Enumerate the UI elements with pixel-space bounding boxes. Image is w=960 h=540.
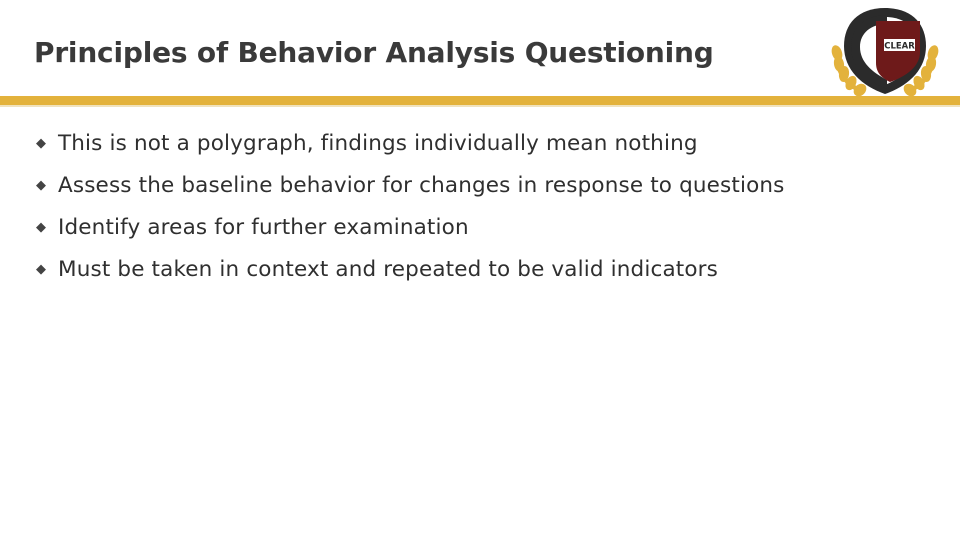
diamond-bullet-icon: ◆	[34, 166, 58, 206]
page-title: Principles of Behavior Analysis Question…	[34, 36, 814, 70]
diamond-bullet-icon: ◆	[34, 208, 58, 248]
diamond-bullet-icon: ◆	[34, 124, 58, 164]
title-divider-rule	[0, 96, 960, 105]
bullet-list: ◆ This is not a polygraph, findings indi…	[34, 124, 914, 292]
list-item-text: Assess the baseline behavior for changes…	[58, 166, 914, 206]
title-divider-shadow	[0, 105, 960, 107]
list-item-text: Identify areas for further examination	[58, 208, 914, 248]
shield-label-text: CLEAR	[884, 42, 915, 52]
list-item-text: Must be taken in context and repeated to…	[58, 250, 914, 290]
list-item: ◆ Identify areas for further examination	[34, 208, 914, 248]
list-item: ◆ Must be taken in context and repeated …	[34, 250, 914, 290]
slide: Principles of Behavior Analysis Question…	[0, 0, 960, 540]
list-item: ◆ This is not a polygraph, findings indi…	[34, 124, 914, 164]
list-item: ◆ Assess the baseline behavior for chang…	[34, 166, 914, 206]
list-item-text: This is not a polygraph, findings indivi…	[58, 124, 914, 164]
clear-shield-logo: CLEAR	[824, 8, 946, 100]
diamond-bullet-icon: ◆	[34, 250, 58, 290]
